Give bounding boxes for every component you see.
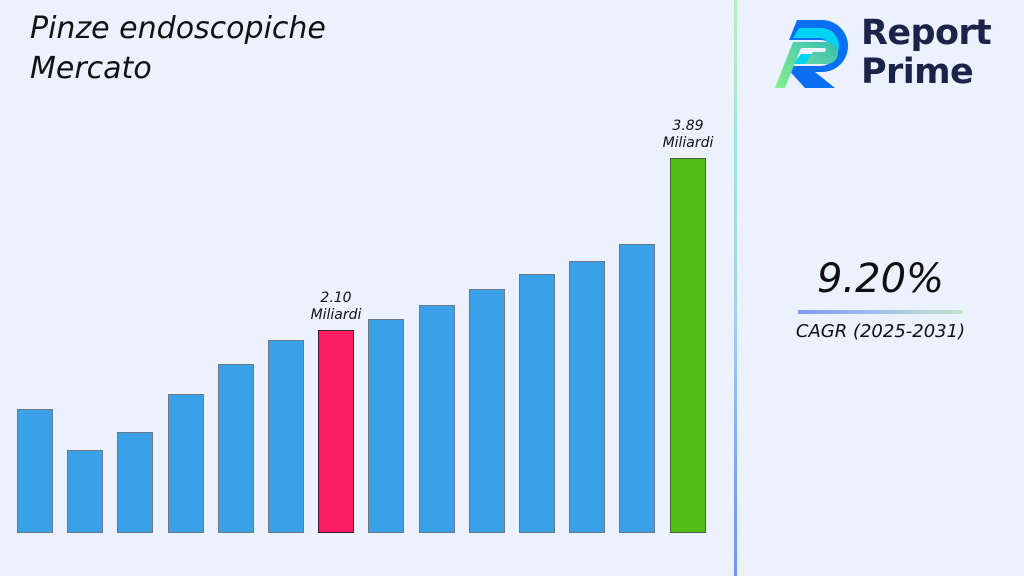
bar-chart: 2.10 Miliardi3.89 Miliardi 2018201920202… [0, 110, 726, 534]
cagr-divider [798, 310, 963, 314]
bar-rect-2018 [17, 409, 53, 533]
bar-rect-2021 [168, 394, 204, 533]
cagr-value: 9.20% [737, 255, 1024, 303]
bar-rect-2030 [619, 244, 655, 533]
bar-rect-2031 [670, 158, 706, 533]
bar-value-label-2031: 3.89 Miliardi [640, 118, 736, 152]
bar-rect-2019 [67, 450, 103, 533]
infographic-page: Pinze endoscopiche Mercato 2.10 Miliardi… [0, 0, 1024, 576]
cagr-caption: CAGR (2025-2031) [737, 320, 1024, 344]
bars-layer: 2.10 Miliardi3.89 Miliardi [0, 110, 726, 534]
page-title: Pinze endoscopiche Mercato [30, 9, 500, 89]
bar-rect-2020 [117, 432, 153, 533]
bar-rect-2028 [519, 274, 555, 533]
bar-rect-2026 [419, 305, 455, 533]
bar-rect-2022 [218, 364, 254, 533]
bar-rect-2024 [318, 330, 354, 533]
bar-rect-2025 [368, 319, 404, 533]
cagr-block: 9.20% CAGR (2025-2031) [737, 255, 1024, 344]
bar-rect-2027 [469, 289, 505, 533]
bar-rect-2023 [268, 340, 304, 533]
right-panel: Report Prime 9.20% CAGR (2025-2031) [737, 0, 1024, 576]
brand-logo: Report Prime [775, 14, 1015, 92]
bar-rect-2029 [569, 261, 605, 533]
brand-wordmark: Report Prime [861, 14, 991, 92]
report-prime-logo-icon [775, 16, 853, 88]
